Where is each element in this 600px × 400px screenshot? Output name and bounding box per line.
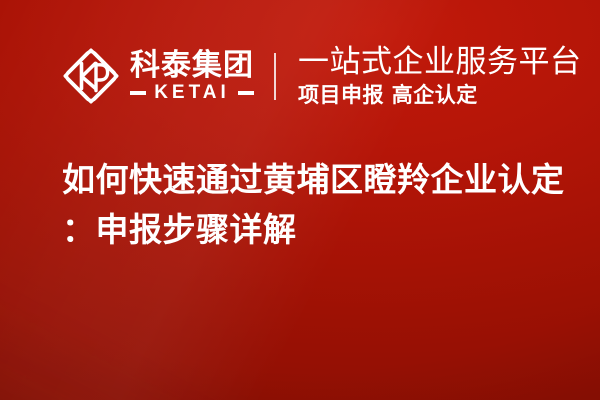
- logo-dash-left-icon: [130, 91, 146, 95]
- banner-header: 科泰集团 KETAI 一站式企业服务平台 项目申报 高企认定: [0, 30, 600, 122]
- logo-chinese-name: 科泰集团: [130, 50, 254, 82]
- logo-latin-row: KETAI: [130, 83, 254, 103]
- header-vertical-divider: [274, 53, 276, 100]
- brand-lockup[interactable]: 科泰集团 KETAI: [62, 47, 254, 105]
- tagline-primary: 一站式企业服务平台: [298, 44, 582, 80]
- tagline-secondary: 项目申报 高企认定: [298, 82, 582, 108]
- promo-banner: 科泰集团 KETAI 一站式企业服务平台 项目申报 高企认定 如何快速通过黄埔区…: [0, 0, 600, 400]
- ketai-diamond-logo-icon: [62, 47, 120, 105]
- page-title: 如何快速通过黄埔区瞪羚企业认定 ：申报步骤详解: [62, 155, 562, 255]
- page-title-line-1: 如何快速通过黄埔区瞪羚企业认定: [62, 155, 562, 205]
- logo-dash-right-icon: [238, 91, 254, 95]
- logo-latin-name: KETAI: [151, 83, 233, 103]
- tagline-block: 一站式企业服务平台 项目申报 高企认定: [298, 44, 582, 108]
- page-title-line-2: ：申报步骤详解: [62, 205, 562, 255]
- logo-wordmark: 科泰集团 KETAI: [130, 50, 254, 103]
